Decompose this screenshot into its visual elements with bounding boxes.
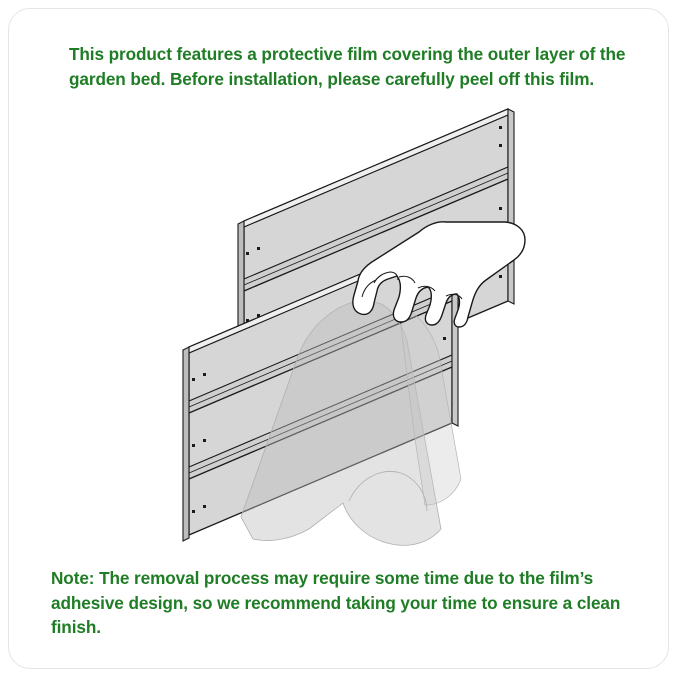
bolt-hole — [192, 378, 195, 381]
bolt-hole — [246, 252, 249, 255]
bolt-hole — [203, 373, 206, 376]
bolt-hole — [203, 439, 206, 442]
bolt-hole — [257, 247, 260, 250]
bolt-hole — [192, 510, 195, 513]
bolt-hole — [499, 126, 502, 129]
bolt-hole — [203, 505, 206, 508]
bolt-hole — [192, 444, 195, 447]
bolt-hole — [443, 337, 446, 340]
bolt-hole — [499, 207, 502, 210]
lower-wall-left-flange — [183, 347, 189, 541]
footer-note-text: Note: The removal process may require so… — [51, 566, 636, 640]
instruction-card: This product features a protective film … — [8, 8, 669, 669]
bolt-hole — [499, 144, 502, 147]
bolt-hole — [499, 275, 502, 278]
upper-wall-right-endcap — [508, 109, 514, 304]
